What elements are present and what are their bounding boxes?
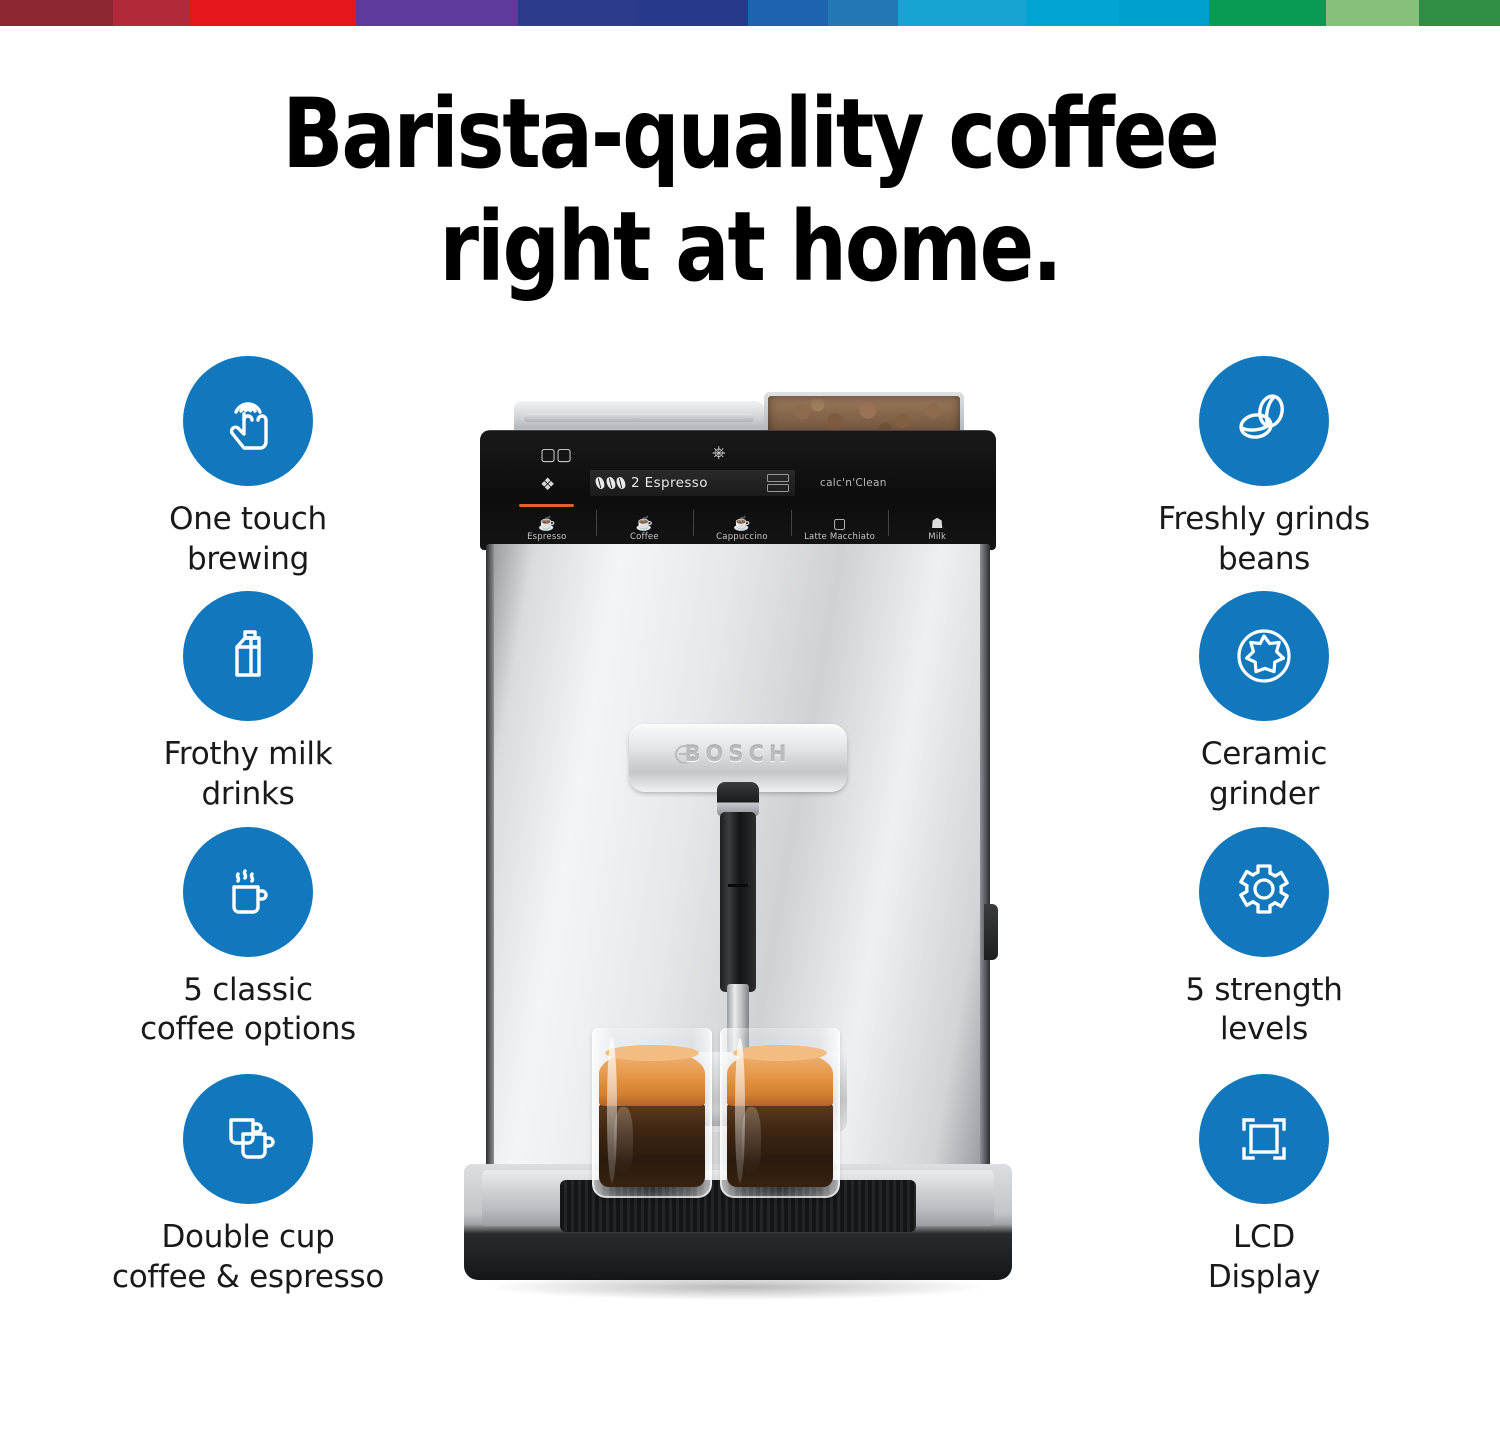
brand-color-segment-4 bbox=[518, 0, 640, 26]
feature-ceramic-grinder: Ceramic grinder bbox=[1104, 591, 1424, 814]
brand-color-segment-9 bbox=[1026, 0, 1120, 26]
glass-cup bbox=[720, 1028, 840, 1198]
feature-double-cup: Double cup coffee & espresso bbox=[88, 1074, 408, 1297]
feature-label: Ceramic grinder bbox=[1104, 735, 1424, 814]
lcd-display-text: 2 Espresso bbox=[631, 475, 761, 491]
brand-color-segment-11 bbox=[1209, 0, 1325, 26]
brand-color-bar bbox=[0, 0, 1500, 26]
drink-label: Espresso bbox=[498, 532, 596, 542]
drink-label: Cappuccino bbox=[693, 532, 791, 542]
brand-color-segment-13 bbox=[1419, 0, 1500, 26]
brand-logo: BOSCH bbox=[629, 742, 847, 766]
glass-cup bbox=[592, 1028, 712, 1198]
cappuccino-cup-icon: ☕ bbox=[693, 516, 791, 530]
feature-one-touch-brewing: One touch brewing bbox=[88, 356, 408, 579]
brand-color-segment-2 bbox=[189, 0, 356, 26]
feature-lcd-display: LCD Display bbox=[1104, 1074, 1424, 1297]
glass-highlight bbox=[607, 1038, 617, 1182]
brand-color-segment-1 bbox=[113, 0, 190, 26]
drink-button-milk[interactable]: ☗ Milk bbox=[888, 508, 986, 542]
spout-cap bbox=[717, 782, 759, 816]
feature-label: LCD Display bbox=[1104, 1218, 1424, 1297]
drink-selection-bar: ☕ Espresso ☕ Coffee ☕ Cappuccino ▢ Latte… bbox=[498, 508, 986, 548]
power-icon[interactable]: ⎈ bbox=[712, 444, 726, 461]
product-image-coffee-machine: ▢▢ ❖ ⎈ 2 Espresso calc'n'Clean ☕ Espress… bbox=[452, 378, 1052, 1338]
strength-bean bbox=[605, 476, 617, 490]
body-right-edge bbox=[980, 544, 990, 1184]
lcd-water-glyph bbox=[767, 484, 789, 492]
double-cup-icon-badge bbox=[183, 1074, 313, 1204]
feature-column-left: One touch brewing Frothy milk drinks bbox=[88, 356, 408, 1297]
drink-button-latte-macchiato[interactable]: ▢ Latte Macchiato bbox=[791, 508, 889, 542]
headline-line-2: right at home. bbox=[53, 191, 1448, 304]
lcd-display: 2 Espresso bbox=[590, 470, 795, 496]
feature-5-classic-coffee-options: 5 classic coffee options bbox=[88, 827, 408, 1050]
espresso-cup-icon: ☕ bbox=[498, 516, 596, 530]
feature-5-strength-levels: 5 strength levels bbox=[1104, 827, 1424, 1050]
drink-label: Latte Macchiato bbox=[791, 532, 889, 542]
drink-label: Coffee bbox=[596, 532, 694, 542]
espresso-cup-left bbox=[592, 1028, 712, 1198]
feature-label: 5 strength levels bbox=[1104, 971, 1424, 1050]
brand-color-segment-6 bbox=[748, 0, 828, 26]
feature-label: 5 classic coffee options bbox=[88, 971, 408, 1050]
drink-button-espresso[interactable]: ☕ Espresso bbox=[498, 508, 596, 542]
drink-label: Milk bbox=[888, 532, 986, 542]
feature-column-right: Freshly grinds beans Ceramic grinder 5 s… bbox=[1104, 356, 1424, 1297]
page-title: Barista-quality coffee right at home. bbox=[53, 78, 1448, 305]
strength-beans-indicator bbox=[596, 477, 625, 489]
feature-label: Freshly grinds beans bbox=[1104, 500, 1424, 579]
brand-color-segment-7 bbox=[828, 0, 898, 26]
espresso-cup-right bbox=[720, 1028, 840, 1198]
brand-color-segment-5 bbox=[639, 0, 748, 26]
machine-shadow bbox=[492, 1274, 984, 1300]
feature-label: Frothy milk drinks bbox=[88, 735, 408, 814]
strength-bean bbox=[594, 476, 606, 490]
drink-button-coffee[interactable]: ☕ Coffee bbox=[596, 508, 694, 542]
bean-strength-icon[interactable]: ❖ bbox=[540, 476, 555, 493]
milk-jug-icon: ☗ bbox=[888, 516, 986, 530]
lcd-tray-glyph bbox=[767, 474, 789, 482]
calc-n-clean-label: calc'n'Clean bbox=[820, 477, 887, 489]
one-touch-hand-icon-badge bbox=[183, 356, 313, 486]
lcd-status-glyphs bbox=[767, 473, 789, 493]
control-panel: ▢▢ ❖ ⎈ 2 Espresso calc'n'Clean ☕ Espress… bbox=[480, 430, 996, 550]
milk-carton-icon-badge bbox=[183, 591, 313, 721]
feature-label: One touch brewing bbox=[88, 500, 408, 579]
lcd-screen-icon-badge bbox=[1199, 1074, 1329, 1204]
two-cups-icon[interactable]: ▢▢ bbox=[540, 446, 572, 463]
brand-color-segment-0 bbox=[0, 0, 113, 26]
side-knob[interactable] bbox=[984, 904, 998, 960]
ceramic-burr-icon-badge bbox=[1199, 591, 1329, 721]
feature-frothy-milk-drinks: Frothy milk drinks bbox=[88, 591, 408, 814]
brand-color-segment-3 bbox=[356, 0, 517, 26]
spout-column bbox=[720, 812, 756, 992]
brand-color-segment-10 bbox=[1119, 0, 1209, 26]
latte-macchiato-glass-icon: ▢ bbox=[791, 516, 889, 530]
feature-freshly-grinds-beans: Freshly grinds beans bbox=[1104, 356, 1424, 579]
drink-button-cappuccino[interactable]: ☕ Cappuccino bbox=[693, 508, 791, 542]
brand-color-segment-8 bbox=[898, 0, 1026, 26]
steaming-mug-icon-badge bbox=[183, 827, 313, 957]
gear-icon-badge bbox=[1199, 827, 1329, 957]
glass-highlight bbox=[735, 1038, 745, 1182]
headline-line-1: Barista-quality coffee bbox=[282, 78, 1218, 190]
body-left-edge bbox=[486, 544, 494, 1184]
coffee-beans-icon-badge bbox=[1199, 356, 1329, 486]
feature-label: Double cup coffee & espresso bbox=[88, 1218, 408, 1297]
strength-bean bbox=[615, 476, 627, 490]
brand-color-segment-12 bbox=[1326, 0, 1420, 26]
coffee-cup-icon: ☕ bbox=[596, 516, 694, 530]
